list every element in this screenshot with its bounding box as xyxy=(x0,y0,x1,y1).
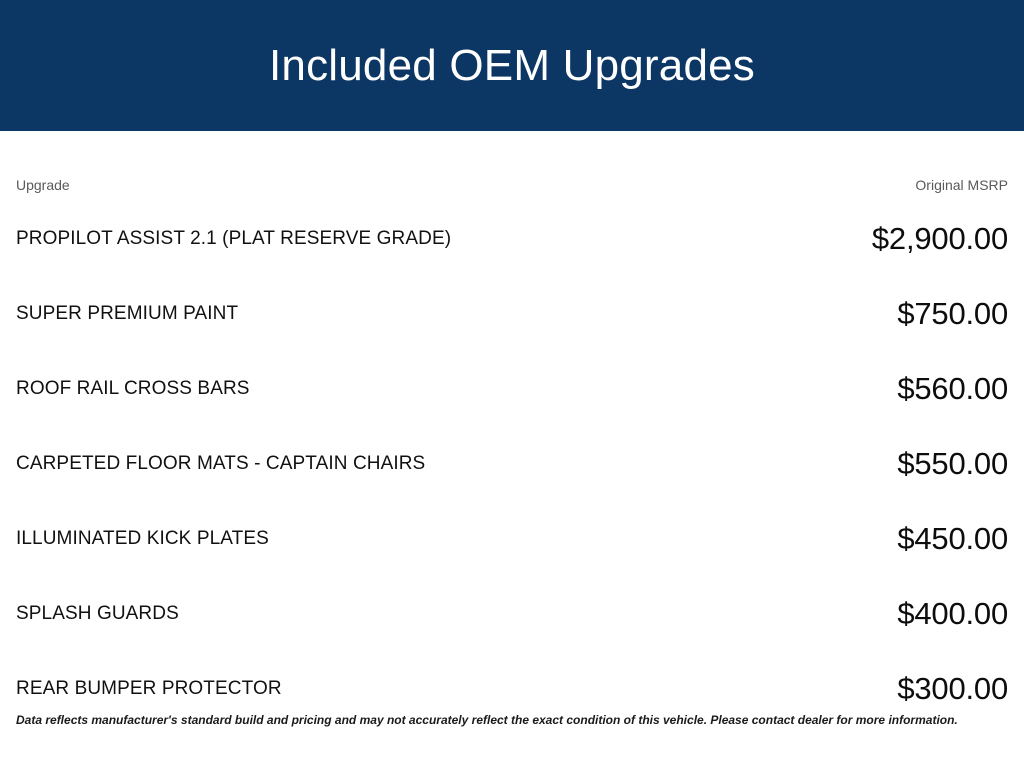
page-title: Included OEM Upgrades xyxy=(269,44,755,88)
disclaimer-text: Data reflects manufacturer's standard bu… xyxy=(16,712,1008,728)
table-row: PROPILOT ASSIST 2.1 (PLAT RESERVE GRADE)… xyxy=(16,201,1008,276)
oem-upgrades-page: Included OEM Upgrades Upgrade Original M… xyxy=(0,0,1024,768)
upgrades-table-container: Upgrade Original MSRP PROPILOT ASSIST 2.… xyxy=(0,131,1024,726)
upgrade-price: $560.00 xyxy=(636,351,1008,426)
table-body: PROPILOT ASSIST 2.1 (PLAT RESERVE GRADE)… xyxy=(16,201,1008,726)
upgrade-name: ROOF RAIL CROSS BARS xyxy=(16,351,636,426)
upgrade-price: $2,900.00 xyxy=(636,201,1008,276)
table-header-row: Upgrade Original MSRP xyxy=(16,131,1008,201)
table-header: Upgrade Original MSRP xyxy=(16,131,1008,201)
upgrade-price: $450.00 xyxy=(636,501,1008,576)
table-row: ILLUMINATED KICK PLATES $450.00 xyxy=(16,501,1008,576)
upgrade-price: $400.00 xyxy=(636,576,1008,651)
upgrade-price: $750.00 xyxy=(636,276,1008,351)
upgrade-name: ILLUMINATED KICK PLATES xyxy=(16,501,636,576)
page-header-banner: Included OEM Upgrades xyxy=(0,0,1024,131)
table-row: CARPETED FLOOR MATS - CAPTAIN CHAIRS $55… xyxy=(16,426,1008,501)
upgrade-name: SUPER PREMIUM PAINT xyxy=(16,276,636,351)
column-header-original-msrp: Original MSRP xyxy=(636,131,1008,201)
upgrade-name: SPLASH GUARDS xyxy=(16,576,636,651)
upgrade-name: CARPETED FLOOR MATS - CAPTAIN CHAIRS xyxy=(16,426,636,501)
upgrade-price: $550.00 xyxy=(636,426,1008,501)
upgrades-table: Upgrade Original MSRP PROPILOT ASSIST 2.… xyxy=(16,131,1008,726)
upgrade-name: PROPILOT ASSIST 2.1 (PLAT RESERVE GRADE) xyxy=(16,201,636,276)
column-header-upgrade: Upgrade xyxy=(16,131,636,201)
table-row: SUPER PREMIUM PAINT $750.00 xyxy=(16,276,1008,351)
table-row: SPLASH GUARDS $400.00 xyxy=(16,576,1008,651)
table-row: ROOF RAIL CROSS BARS $560.00 xyxy=(16,351,1008,426)
